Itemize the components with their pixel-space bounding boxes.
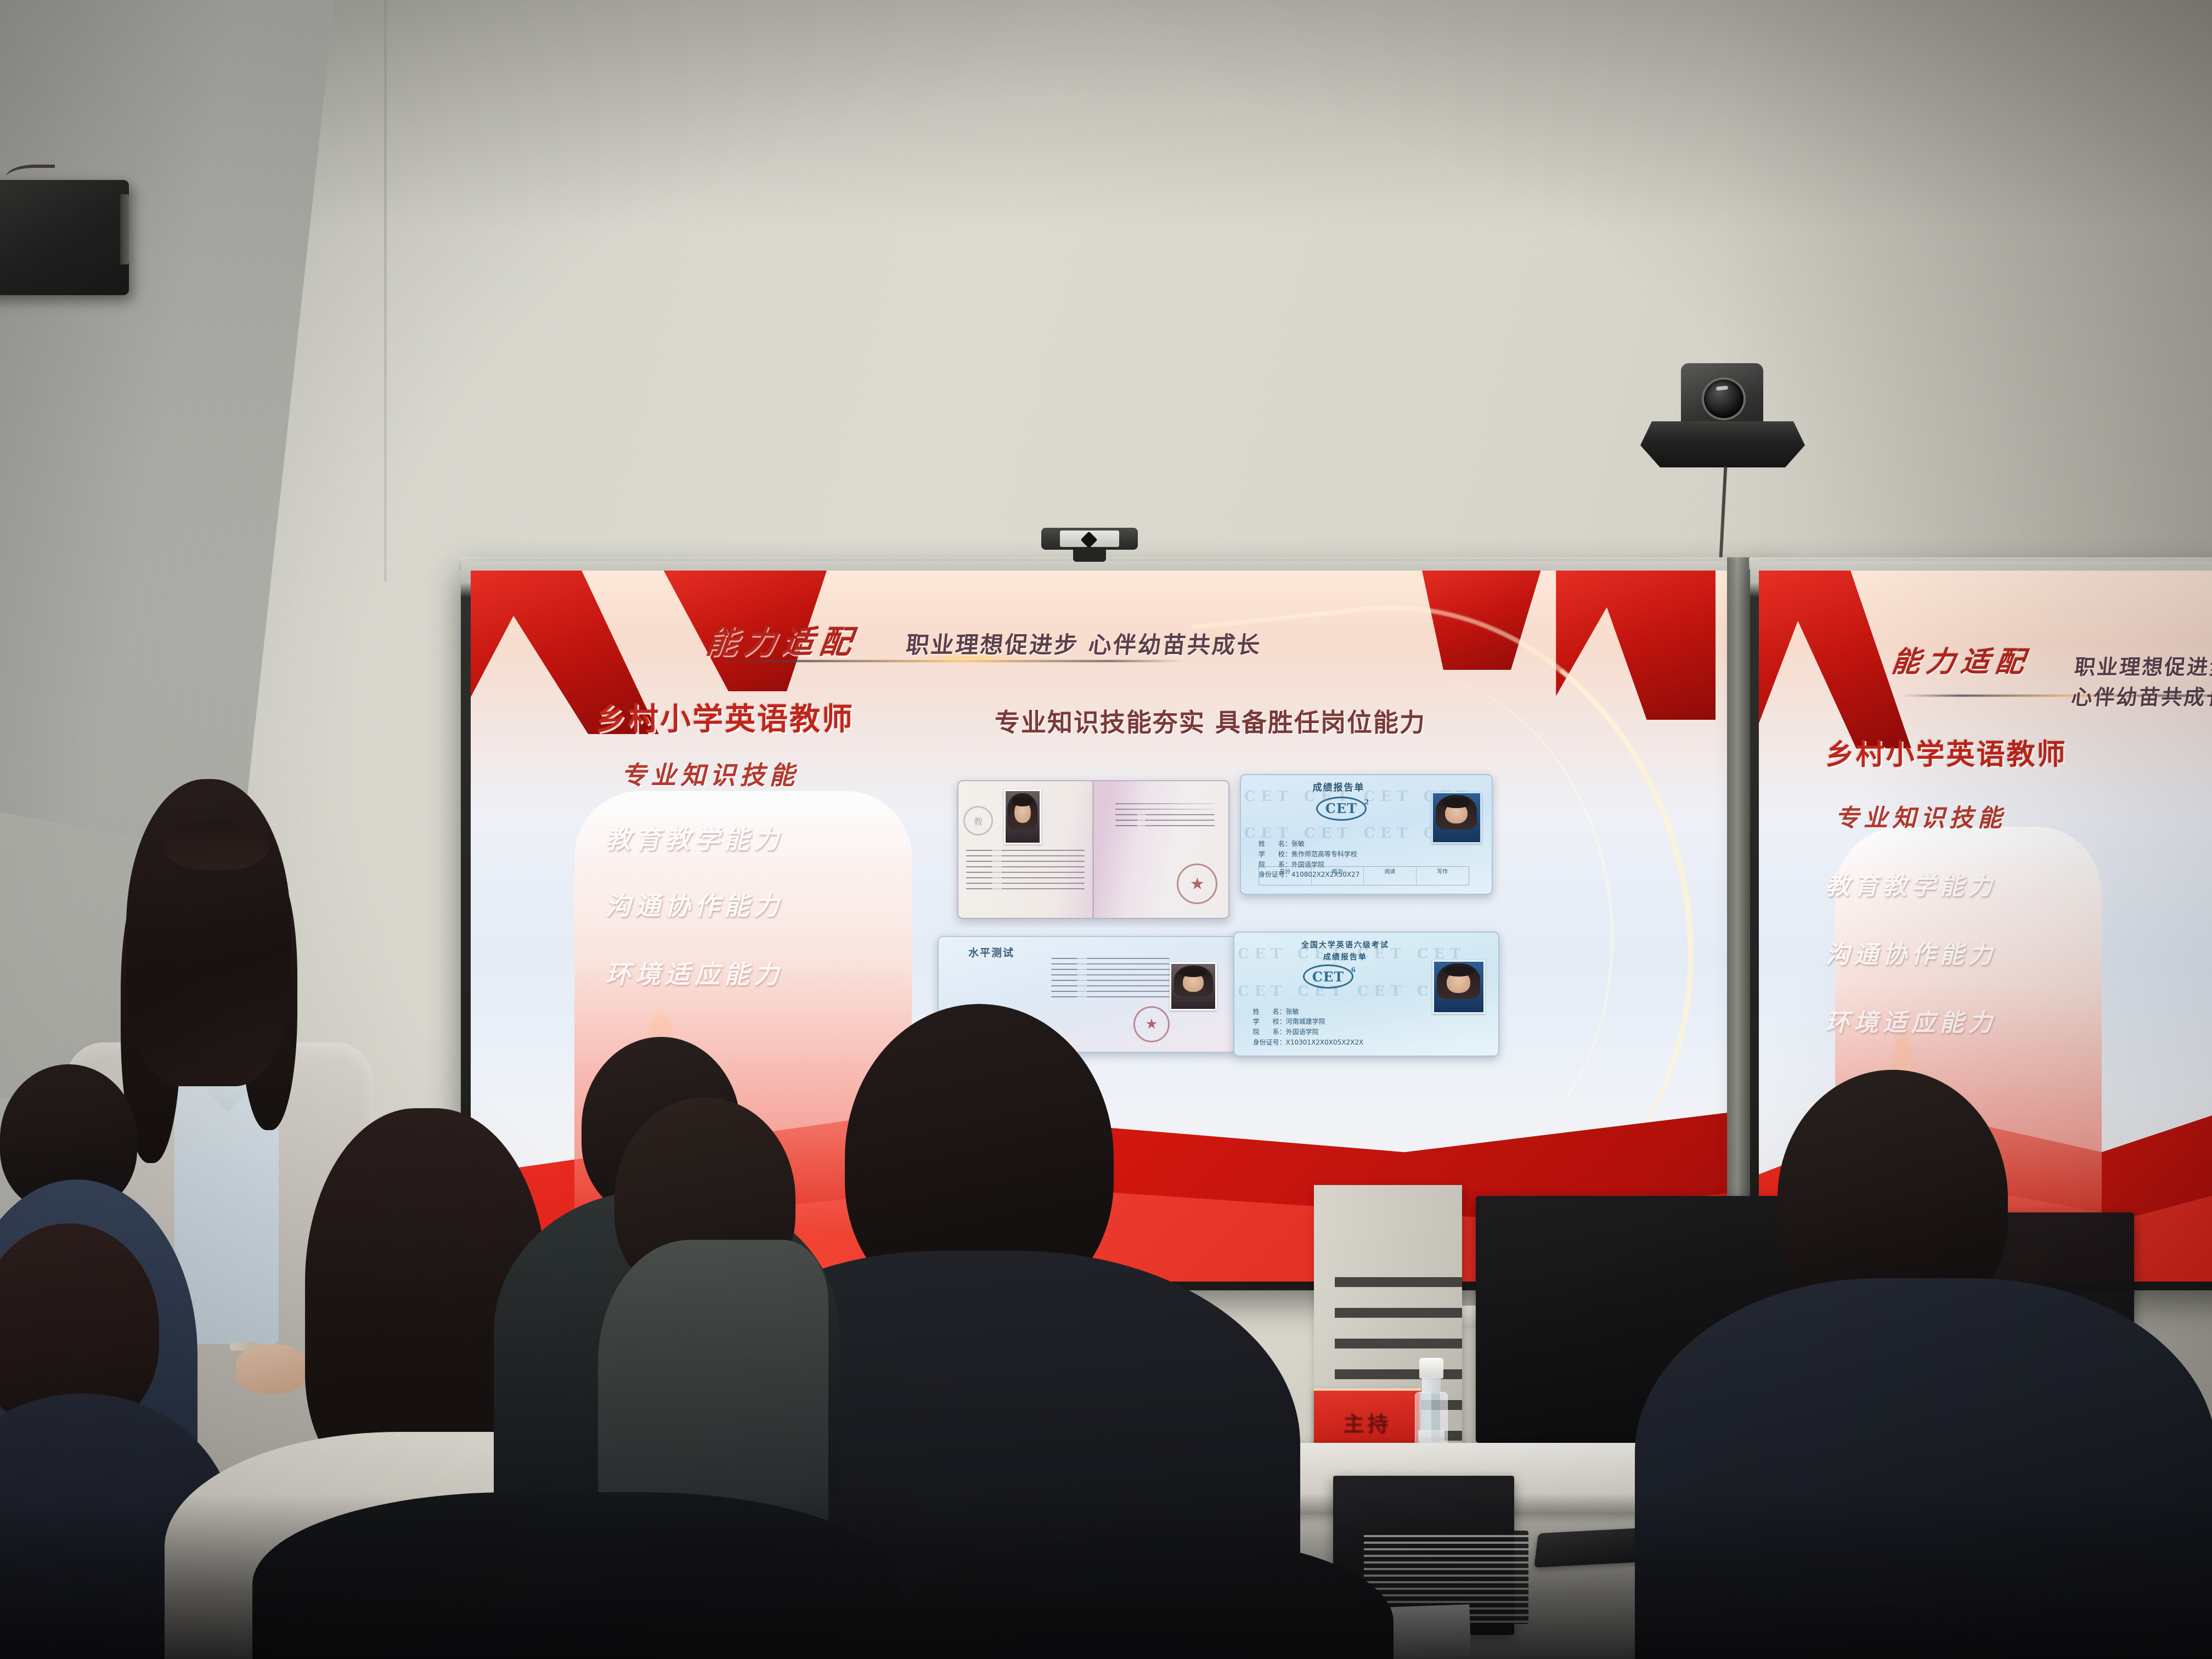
score-col: 阅读 bbox=[1364, 867, 1417, 885]
photo-bangs bbox=[1012, 797, 1033, 807]
speaker-edge bbox=[120, 194, 129, 264]
slide-heading-left: 乡村小学英语教师 bbox=[595, 695, 854, 739]
ptz-camera-base bbox=[1640, 421, 1805, 467]
teacher-certificate-document: 教 ★ bbox=[957, 780, 1229, 919]
score-col: 总分 bbox=[1259, 867, 1312, 885]
cet-logo-level: 2 bbox=[1364, 798, 1369, 806]
nameplate-text: 主持 bbox=[1343, 1407, 1391, 1437]
capability-item: 沟通协作能力 bbox=[606, 886, 783, 922]
capability-item: 环境适应能力 bbox=[1826, 1003, 1997, 1038]
proficiency-photo bbox=[1170, 962, 1217, 1011]
wall-seam bbox=[384, 0, 387, 582]
capability-item: 教育教学能力 bbox=[1826, 866, 1997, 901]
cet6-field: 姓 名：张敏 bbox=[1253, 1007, 1427, 1017]
capability-item: 沟通协作能力 bbox=[1826, 935, 1997, 970]
cet6-fields: 姓 名：张敏 学 校：河南城建学院 院 系：外国语学院 身份证号：X10301X… bbox=[1253, 1007, 1427, 1047]
slide-subtitle: 职业理想促进步 心伴幼苗共成长 bbox=[905, 627, 1263, 660]
official-red-seal: ★ bbox=[1133, 1006, 1170, 1042]
presenter-bangs bbox=[163, 820, 269, 870]
score-col: 写作 bbox=[1417, 867, 1469, 885]
bottle-cap bbox=[1419, 1358, 1443, 1379]
official-red-seal: ★ bbox=[1177, 864, 1217, 904]
slide-heading-right: 专业知识技能夯实 具备胜任岗位能力 bbox=[995, 703, 1426, 739]
cet4-field: 姓 名：张敏 bbox=[1259, 839, 1424, 849]
embossed-seal: 教 bbox=[963, 806, 993, 836]
cet-logo-text: CET bbox=[1312, 969, 1344, 985]
photo-bangs bbox=[1442, 798, 1470, 808]
certificate-text-lines bbox=[1115, 803, 1215, 831]
wall-speaker bbox=[0, 180, 129, 295]
cet4-field: 学 校：焦作师范高等专科学校 bbox=[1259, 849, 1424, 860]
presenter-hand bbox=[236, 1344, 307, 1393]
proficiency-fields bbox=[1051, 958, 1170, 1002]
slide-heading-left: 乡村小学英语教师 bbox=[1826, 731, 2067, 772]
score-col: 听力 bbox=[1312, 867, 1364, 885]
ptz-camera-lens bbox=[1704, 380, 1743, 418]
cet6-field: 学 校：河南城建学院 bbox=[1253, 1017, 1427, 1027]
ptz-camera-icon bbox=[1634, 363, 1815, 495]
certificate-left-page: 教 bbox=[958, 781, 1093, 918]
ribbon-decoration bbox=[1759, 571, 1911, 748]
smartphone[interactable] bbox=[1534, 1528, 1647, 1568]
certificate-photo bbox=[1004, 789, 1042, 844]
capability-item: 专业知识技能 bbox=[1835, 798, 2006, 833]
slide-title: 能力适配 bbox=[704, 616, 861, 662]
certificate-fields bbox=[966, 850, 1084, 894]
cet-logo-text: CET bbox=[1325, 800, 1357, 816]
audience-body bbox=[1635, 1278, 2212, 1659]
classroom-scene: 能力适配 职业理想促进步 心伴幼苗共成长 乡村小学英语教师 专业知识技能夯实 具… bbox=[0, 0, 2212, 1659]
webcam-icon bbox=[1041, 528, 1138, 562]
webcam-clip bbox=[1073, 548, 1106, 562]
cet6-photo bbox=[1432, 960, 1485, 1014]
slide-title: 能力适配 bbox=[1889, 639, 2033, 680]
audience-body bbox=[252, 1492, 900, 1659]
cet6-score-report: CET CET CET CET CET CET CET CET 全国大学英语六级… bbox=[1233, 932, 1499, 1057]
cet4-score-report: CET CET CET CET CET CET CET CET 成绩报告单 CE… bbox=[1240, 774, 1493, 895]
capability-item: 教育教学能力 bbox=[606, 820, 783, 856]
capability-item: 环境适应能力 bbox=[606, 955, 783, 991]
cet-logo-icon: CET 2 bbox=[1316, 797, 1367, 821]
cet4-score-table: 总分 听力 阅读 写作 bbox=[1259, 866, 1469, 885]
certificate-right-page: ★ bbox=[1094, 781, 1228, 918]
cet6-field: 身份证号：X10301X2X0X05X2X2X bbox=[1253, 1037, 1427, 1048]
display-mullion bbox=[1727, 557, 1753, 1293]
cet-logo-level: 6 bbox=[1351, 966, 1356, 974]
capability-item: 专业知识技能 bbox=[621, 755, 799, 792]
slide-subtitle: 职业理想促进步 心伴幼苗共成长 bbox=[2070, 650, 2212, 710]
cet6-field: 院 系：外国语学院 bbox=[1253, 1027, 1427, 1037]
cet4-photo bbox=[1431, 792, 1481, 844]
